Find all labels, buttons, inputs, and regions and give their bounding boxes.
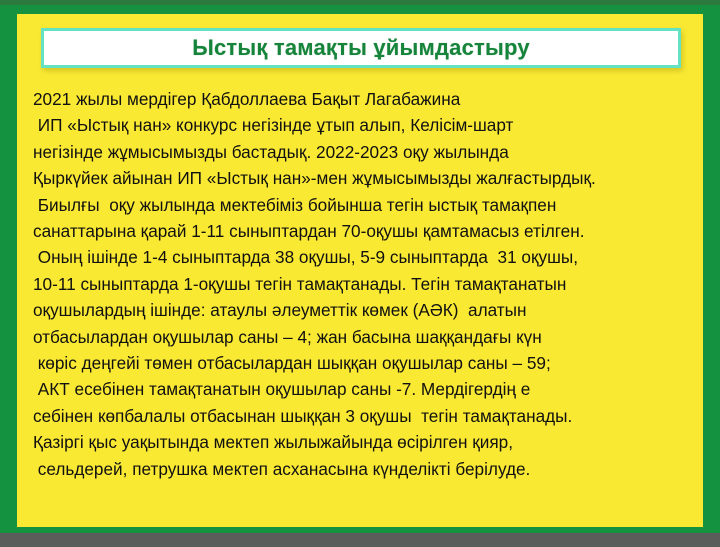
body-line: ИП «Ыстық нан» конкурс негізінде ұтып ал… bbox=[33, 112, 703, 138]
body-line: санаттарына қарай 1-11 сыныптардан 70-оқ… bbox=[33, 218, 703, 244]
body-text-block: 2021 жылы мердігер Қабдоллаева Бақыт Лаг… bbox=[33, 86, 703, 482]
body-line: Қазіргі қыс уақытында мектеп жылыжайында… bbox=[33, 429, 703, 455]
bottom-gray-strip bbox=[0, 533, 720, 547]
body-line: сельдерей, петрушка мектеп асханасына кү… bbox=[33, 456, 703, 482]
body-line: Биылғы оқу жылында мектебіміз бойынша те… bbox=[33, 192, 703, 218]
body-line: 2021 жылы мердігер Қабдоллаева Бақыт Лаг… bbox=[33, 86, 703, 112]
body-line: Қыркүйек айынан ИП «Ыстық нан»-мен жұмыс… bbox=[33, 165, 703, 191]
body-line: көріс деңгейі төмен отбасылардан шыққан … bbox=[33, 350, 703, 376]
body-line: негізінде жұмысымызды бастадық. 2022-202… bbox=[33, 139, 703, 165]
body-line: АКТ есебінен тамақтанатын оқушылар саны … bbox=[33, 376, 703, 402]
body-line: оқушылардың ішінде: атаулы әлеуметтік кө… bbox=[33, 297, 703, 323]
yellow-content-panel: Ыстық тамақты ұйымдастыру 2021 жылы мерд… bbox=[17, 14, 703, 527]
slide-frame: Ыстық тамақты ұйымдастыру 2021 жылы мерд… bbox=[0, 0, 720, 547]
title-box: Ыстық тамақты ұйымдастыру bbox=[41, 28, 681, 68]
body-line: отбасылардан оқушылар саны – 4; жан басы… bbox=[33, 324, 703, 350]
body-line: себінен көпбалалы отбасынан шыққан 3 оқу… bbox=[33, 403, 703, 429]
body-line: Оның ішінде 1-4 сыныптарда 38 оқушы, 5-9… bbox=[33, 244, 703, 270]
top-shade-strip bbox=[0, 0, 720, 5]
body-line: 10-11 сыныптарда 1-оқушы тегін тамақтана… bbox=[33, 271, 703, 297]
page-title: Ыстық тамақты ұйымдастыру bbox=[192, 35, 530, 61]
